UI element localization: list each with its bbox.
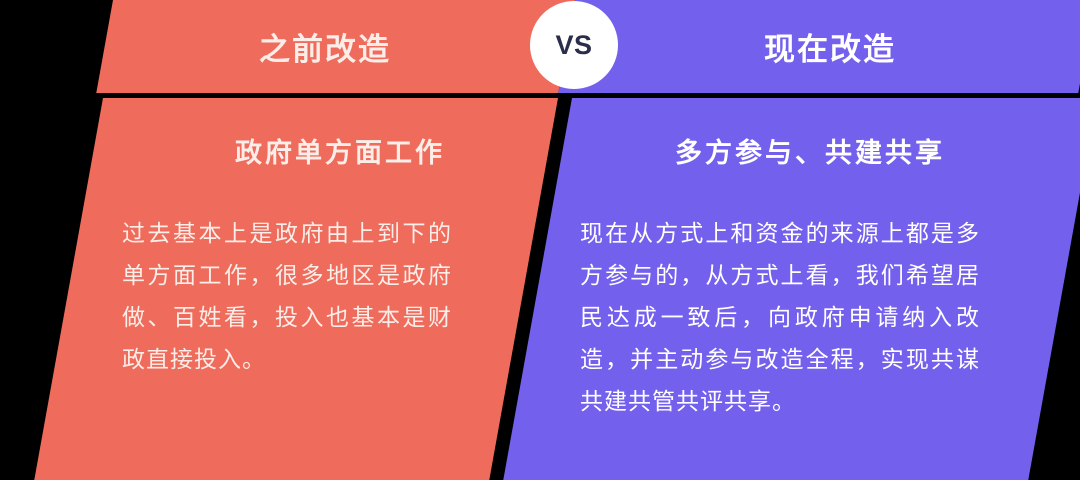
right-body-text: 现在从方式上和资金的来源上都是多方参与的，从方式上看，我们希望居民达成一致后，向… (580, 212, 980, 422)
left-body-text: 过去基本上是政府由上到下的单方面工作，很多地区是政府做、百姓看，投入也基本是财政… (122, 212, 452, 380)
left-header-title: 之前改造 (100, 0, 550, 93)
right-header-title: 现在改造 (600, 0, 1060, 93)
header-body-divider (0, 93, 1080, 98)
vs-badge: VS (530, 1, 618, 89)
left-subtitle: 政府单方面工作 (130, 131, 550, 170)
comparison-infographic: 之前改造 现在改造 VS 政府单方面工作 多方参与、共建共享 过去基本上是政府由… (0, 0, 1080, 480)
right-subtitle: 多方参与、共建共享 (590, 131, 1030, 170)
